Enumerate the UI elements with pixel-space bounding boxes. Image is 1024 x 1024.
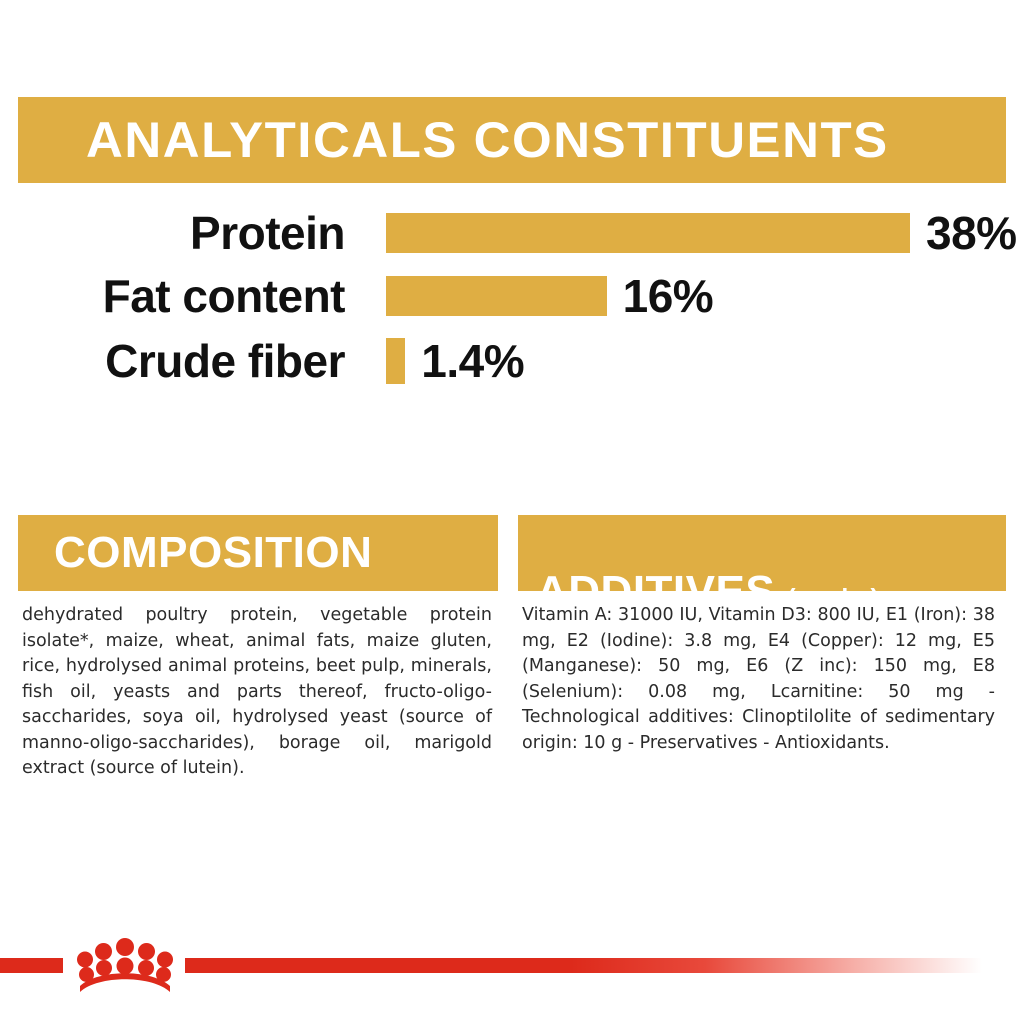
royal-canin-crown-icon bbox=[70, 935, 180, 995]
analyticals-constituents-header: ANALYTICALS CONSTITUENTS bbox=[18, 97, 1006, 183]
analyticals-bar-chart: Protein 38% Fat content 16% Crude fiber … bbox=[0, 205, 1024, 395]
chart-row: Fat content 16% bbox=[0, 268, 1024, 324]
bar-value-crude-fiber: 1.4% bbox=[421, 338, 524, 384]
bar-label-protein: Protein bbox=[0, 210, 345, 256]
footer-rule-left bbox=[0, 958, 63, 973]
brand-footer bbox=[0, 935, 1024, 1024]
composition-header: COMPOSITION bbox=[18, 515, 498, 591]
bar-value-protein: 38% bbox=[926, 210, 1017, 256]
bar-crude-fiber bbox=[386, 338, 405, 384]
composition-body-text: dehydrated poultry protein, vegetable pr… bbox=[22, 603, 492, 782]
additives-header: ADDITIVES (per kg) bbox=[518, 515, 1006, 591]
bar-label-crude-fiber: Crude fiber bbox=[0, 338, 345, 384]
bar-wrap-fat-content: 16% bbox=[386, 268, 713, 324]
footer-rule-right bbox=[185, 958, 1024, 973]
bar-value-fat-content: 16% bbox=[623, 273, 714, 319]
chart-row: Protein 38% bbox=[0, 205, 1024, 261]
additives-body-text: Vitamin A: 31000 IU, Vitamin D3: 800 IU,… bbox=[522, 603, 995, 756]
bar-wrap-crude-fiber: 1.4% bbox=[386, 333, 524, 389]
bar-wrap-protein: 38% bbox=[386, 205, 1017, 261]
bar-fat-content bbox=[386, 276, 607, 316]
chart-row: Crude fiber 1.4% bbox=[0, 333, 1024, 389]
bar-protein bbox=[386, 213, 910, 253]
composition-title: COMPOSITION bbox=[54, 531, 372, 575]
analyticals-constituents-title: ANALYTICALS CONSTITUENTS bbox=[86, 115, 889, 165]
bar-label-fat-content: Fat content bbox=[0, 273, 345, 319]
